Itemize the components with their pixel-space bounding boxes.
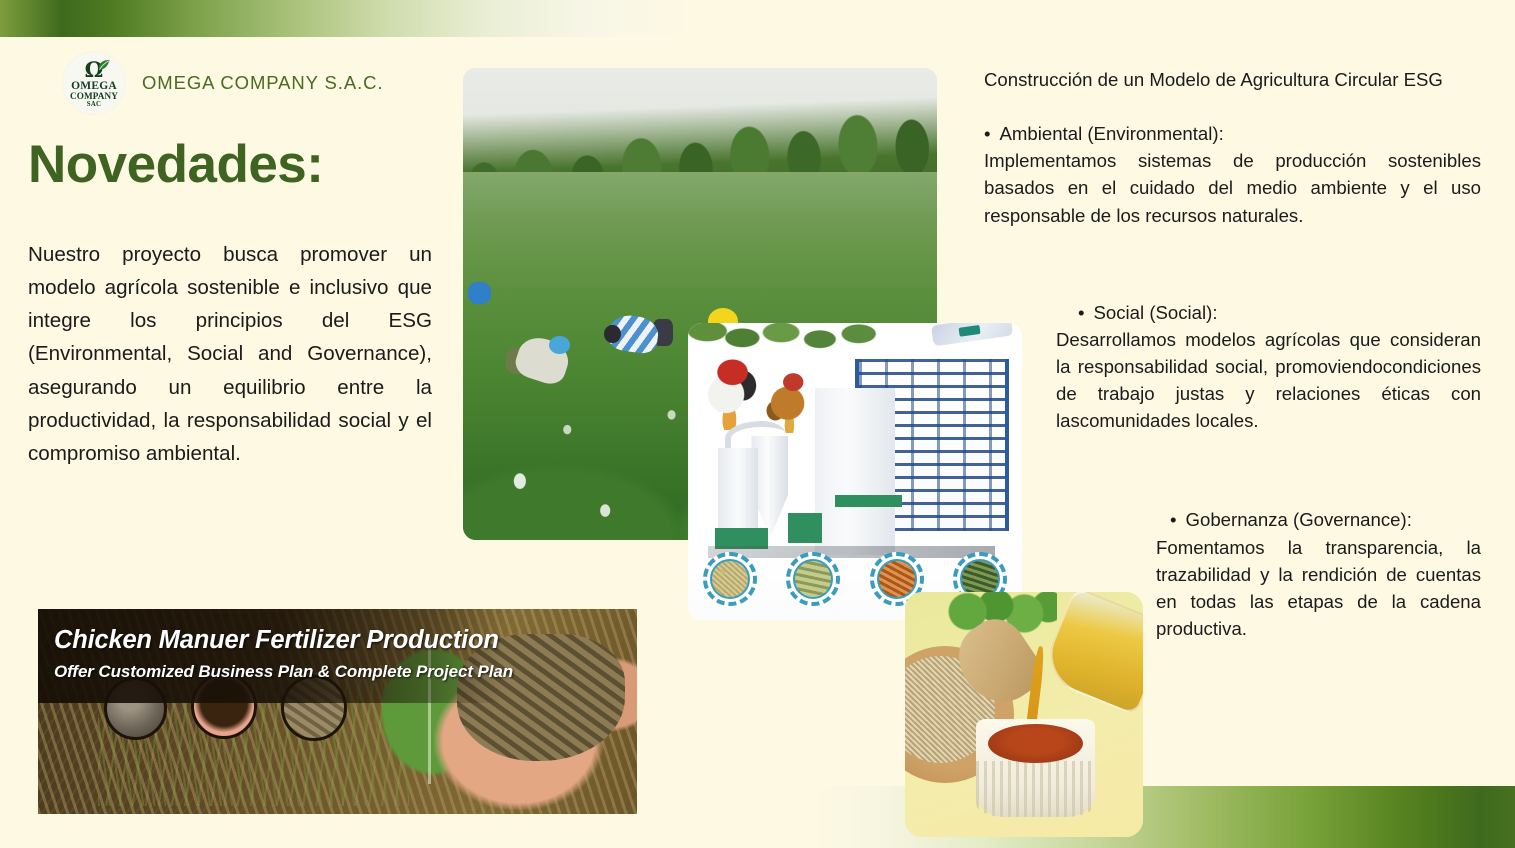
logo-line-sac: SAC <box>87 102 102 109</box>
logo-wordmark: OMEGA COMPANY SAC <box>70 81 118 110</box>
feed-sample-crumble <box>786 552 840 606</box>
photo-mixer-unit <box>815 388 895 554</box>
esg-body-environmental: Implementamos sistemas de producción sos… <box>984 147 1481 228</box>
rooster-image <box>705 356 758 430</box>
photo-corner-tab <box>931 323 1013 346</box>
bullet-icon: • <box>1170 506 1177 533</box>
esg-heading-environmental: Ambiental (Environmental): <box>1000 120 1224 147</box>
sesame-oil-photo <box>905 592 1143 837</box>
top-gradient-band <box>0 0 690 37</box>
photo-machinery-stage <box>688 323 1022 620</box>
esg-heading-row-environmental: • Ambiental (Environmental): <box>984 120 1481 147</box>
slide-canvas: Ω OMEGA COMPANY SAC OMEGA COMPANY S.A.C.… <box>0 0 1515 848</box>
esg-heading-row-governance: • Gobernanza (Governance): <box>1156 506 1481 533</box>
photo-green-frame-2 <box>788 513 821 543</box>
esg-block-governance: • Gobernanza (Governance): Fomentamos la… <box>1156 506 1481 642</box>
company-logo: Ω OMEGA COMPANY SAC <box>63 52 125 114</box>
esg-heading-social: Social (Social): <box>1094 299 1218 326</box>
esg-body-social: Desarrollamos modelos agrícolas que cons… <box>1056 326 1481 435</box>
photo-worker-distant <box>468 282 492 304</box>
bullet-icon: • <box>984 120 991 147</box>
photo-foliage <box>688 323 882 350</box>
logo-omega-row: Ω <box>63 57 125 80</box>
feed-sample-pellets-fine <box>703 552 757 606</box>
photo-worker-1 <box>506 326 568 385</box>
fertilizer-banner-subtitle: Offer Customized Business Plan & Complet… <box>54 662 513 682</box>
company-name: OMEGA COMPANY S.A.C. <box>142 72 383 94</box>
brand-header: Ω OMEGA COMPANY SAC OMEGA COMPANY S.A.C. <box>63 52 383 114</box>
esg-heading-row-social: • Social (Social): <box>1056 299 1481 326</box>
esg-body-governance: Fomentamos la transparencia, la trazabil… <box>1156 534 1481 643</box>
photo-worker-2 <box>605 308 671 363</box>
photo-grinder-unit <box>718 448 758 537</box>
fertilizer-banner-title: Chicken Manuer Fertilizer Production <box>54 626 499 655</box>
esg-column: Construcción de un Modelo de Agricultura… <box>984 66 1481 642</box>
photo-text-overlay <box>38 609 505 703</box>
page-title: Novedades: <box>28 137 323 193</box>
esg-block-social: • Social (Social): Desarrollamos modelos… <box>1056 299 1481 435</box>
chicken-manure-fertilizer-banner: Chicken Manuer Fertilizer Production Off… <box>38 609 637 814</box>
esg-block-environmental: • Ambiental (Environmental): Implementam… <box>984 120 1481 229</box>
bullet-icon: • <box>1078 299 1085 326</box>
intro-paragraph: Nuestro proyecto busca promover un model… <box>28 238 432 470</box>
esg-section-title: Construcción de un Modelo de Agricultura… <box>984 66 1481 93</box>
feed-mill-machinery-photo <box>688 323 1022 620</box>
leaf-icon <box>96 59 111 73</box>
photo-green-frame-3 <box>835 495 902 507</box>
esg-heading-governance: Gobernanza (Governance): <box>1186 506 1412 533</box>
